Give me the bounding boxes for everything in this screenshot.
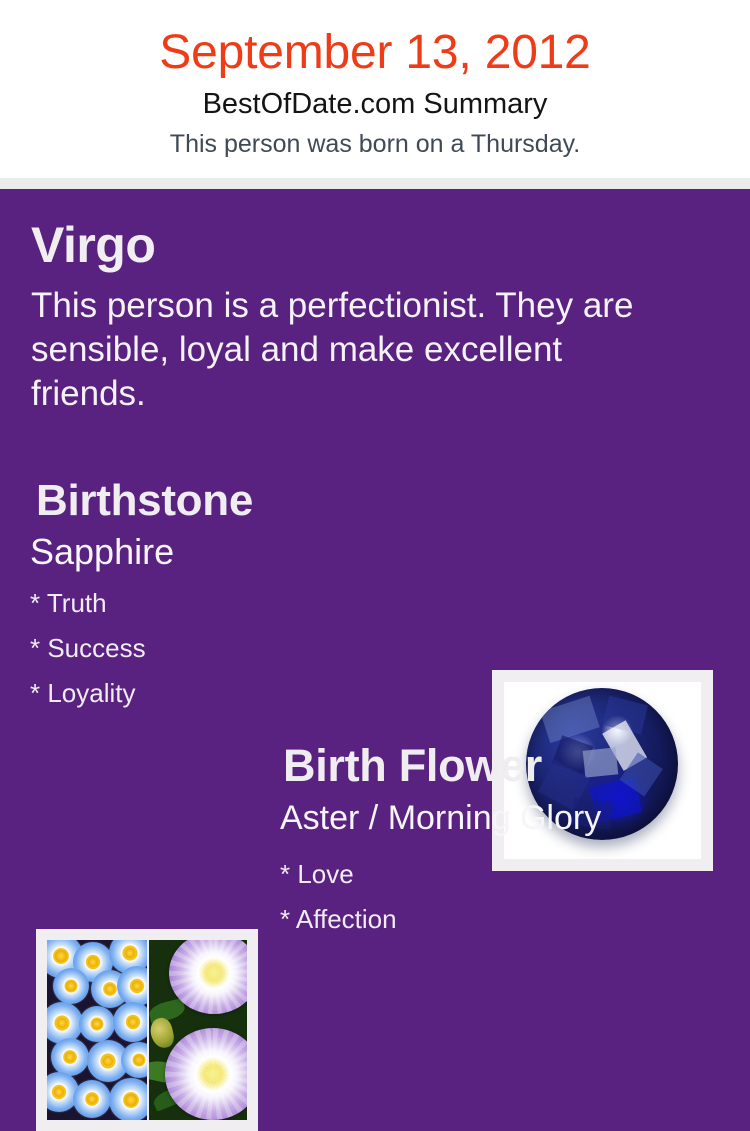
birth-flower-trait-list: * Love * Affection — [280, 852, 680, 942]
list-item: * Affection — [280, 897, 680, 942]
list-item: * Loyality — [30, 671, 430, 716]
header-divider — [0, 178, 750, 189]
zodiac-description: This person is a perfectionist. They are… — [31, 284, 671, 416]
birth-day-note: This person was born on a Thursday. — [0, 128, 750, 160]
aster-bloom — [113, 1002, 147, 1042]
birthstone-trait-list: * Truth * Success * Loyality — [30, 581, 430, 716]
gem-facet — [582, 747, 618, 778]
aster-bloom — [73, 1080, 111, 1118]
birth-flower-image-frame — [36, 929, 258, 1131]
site-summary-label: BestOfDate.com Summary — [0, 86, 750, 122]
list-item: * Love — [280, 852, 680, 897]
list-item: * Success — [30, 626, 430, 671]
birth-flower-name: Aster / Morning Glory — [280, 797, 601, 839]
birthstone-heading: Birthstone — [36, 476, 253, 526]
flower-bud — [148, 1016, 176, 1050]
page-title-date: September 13, 2012 — [0, 24, 750, 82]
aster-bloom — [51, 1038, 89, 1076]
summary-panel: Virgo This person is a perfectionist. Th… — [0, 189, 750, 1000]
page-root: September 13, 2012 BestOfDate.com Summar… — [0, 0, 750, 1000]
aster-bloom — [109, 1078, 147, 1120]
morning-glory-bloom — [165, 1028, 247, 1120]
morning-glory-photo-half — [147, 940, 247, 1120]
list-item: * Truth — [30, 581, 430, 626]
aster-bloom — [53, 968, 89, 1004]
header: September 13, 2012 BestOfDate.com Summar… — [0, 0, 750, 178]
birth-flower-heading: Birth Flower — [283, 740, 542, 792]
image-split-divider — [147, 940, 149, 1120]
gem-facet — [540, 696, 599, 744]
glory-petal-rays — [165, 1028, 247, 1120]
aster-photo-half — [47, 940, 147, 1120]
aster-bloom — [79, 1006, 115, 1042]
birthstone-name: Sapphire — [30, 530, 174, 574]
aster-morning-glory-icon — [47, 940, 247, 1120]
zodiac-sign-title: Virgo — [31, 217, 155, 273]
